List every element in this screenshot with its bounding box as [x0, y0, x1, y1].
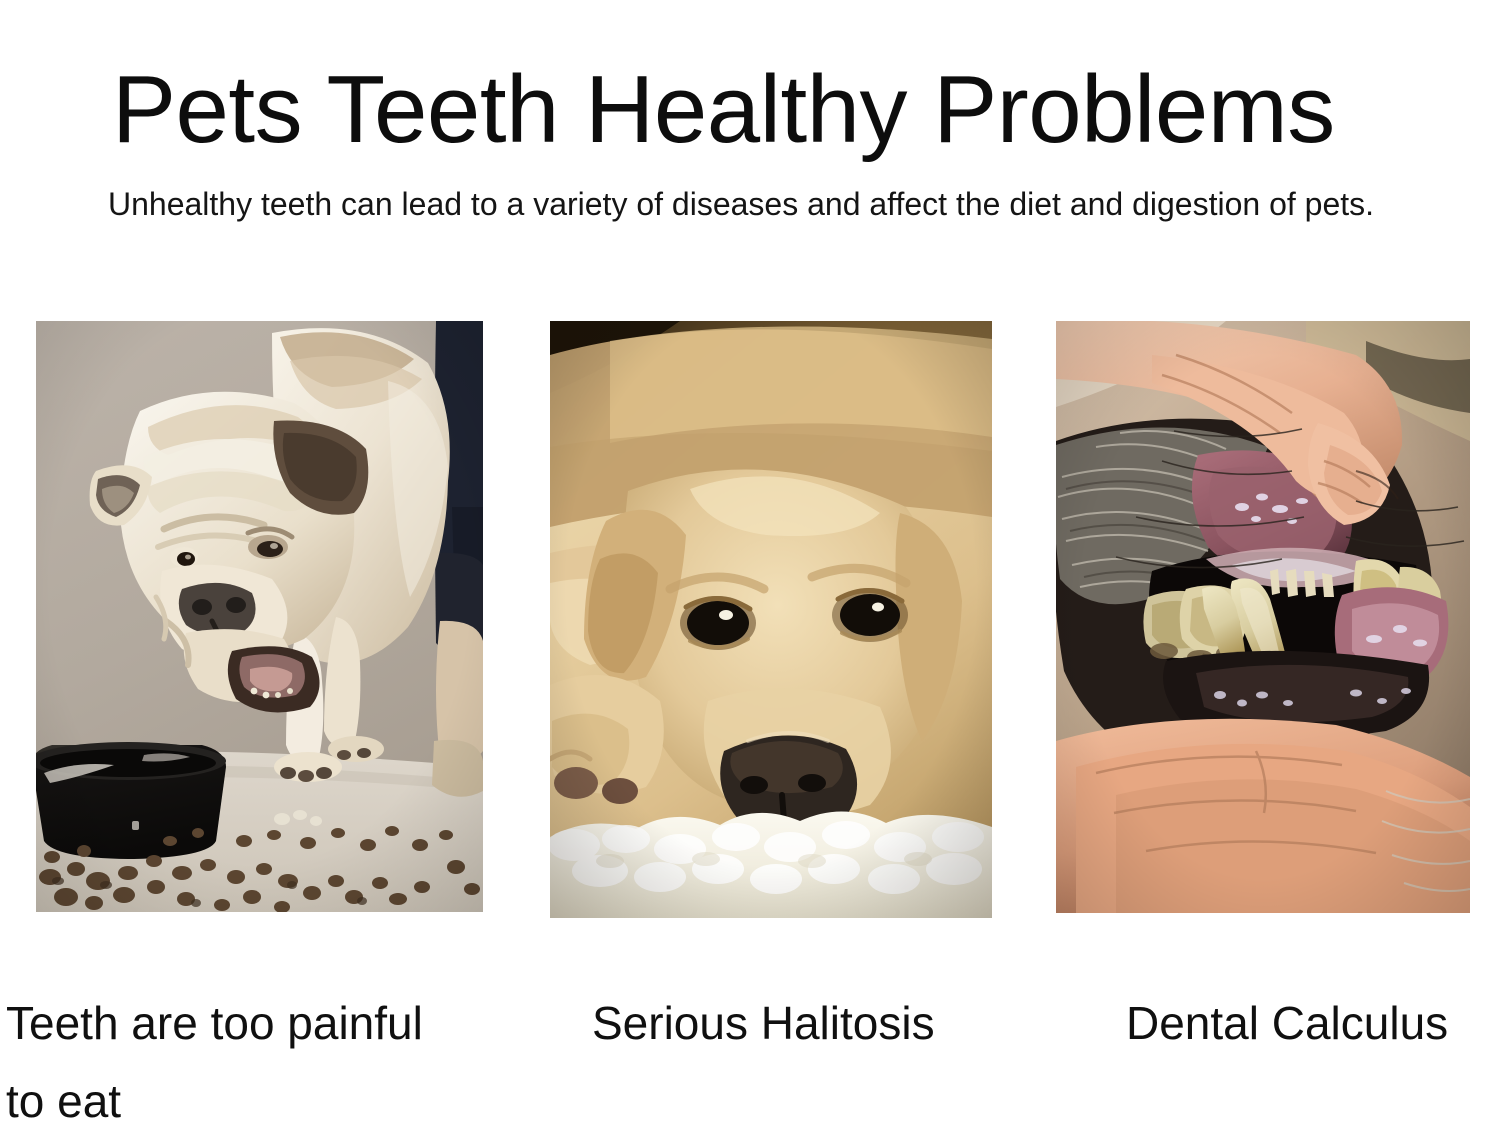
dog-dental-calculus-exam-photo [1056, 321, 1470, 913]
bulldog-at-food-bowl-photo [36, 321, 483, 912]
golden-retriever-resting-photo [550, 321, 992, 918]
photo-row [0, 321, 1500, 921]
poster-page: Pets Teeth Healthy Problems Unhealthy te… [0, 0, 1500, 1134]
caption-teeth-are-too-painful-to-eat: Teeth are too painful to eat [6, 984, 536, 1140]
page-title: Pets Teeth Healthy Problems [112, 58, 1335, 162]
caption-dental-calculus: Dental Calculus [1126, 984, 1500, 1062]
caption-serious-halitosis: Serious Halitosis [592, 984, 1022, 1062]
page-subtitle: Unhealthy teeth can lead to a variety of… [108, 172, 1408, 236]
